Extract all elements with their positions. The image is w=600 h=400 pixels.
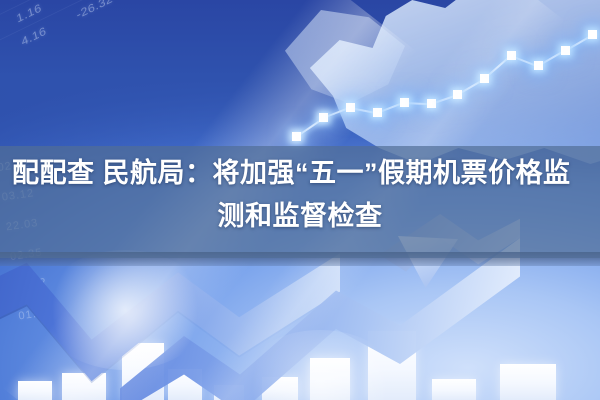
glowing-line-chart xyxy=(290,0,600,160)
line-chart-node xyxy=(588,30,597,39)
number-grid-cell: 4.16 xyxy=(20,24,48,48)
bar-chart-bar xyxy=(310,358,350,400)
line-chart-node xyxy=(319,113,328,122)
line-chart-node xyxy=(561,46,570,55)
line-chart-node xyxy=(400,98,409,107)
line-chart-node xyxy=(480,74,489,83)
line-chart-node xyxy=(292,132,301,141)
bar-chart-bar xyxy=(500,364,556,400)
headline-text: 配配查 民航局：将加强“五一”假期机票价格监 测和监督检查 xyxy=(0,152,600,238)
bar-chart-bar xyxy=(432,379,476,400)
news-thumbnail-image: +45.02-02.3621.02-02.36-11.2545.022.36-1… xyxy=(0,0,600,400)
line-chart-node xyxy=(373,108,382,117)
number-grid-cell: -26.32 xyxy=(75,0,114,21)
line-chart-node xyxy=(427,99,436,108)
line-chart-node xyxy=(453,90,462,99)
line-chart-node xyxy=(346,103,355,112)
headline-line-1: 配配查 民航局：将加强“五一”假期机票价格监 xyxy=(12,152,588,195)
bar-chart-bar xyxy=(18,381,52,400)
line-chart-node xyxy=(534,61,543,70)
line-chart-node xyxy=(507,51,516,60)
headline-line-2: 测和监督检查 xyxy=(12,195,588,238)
